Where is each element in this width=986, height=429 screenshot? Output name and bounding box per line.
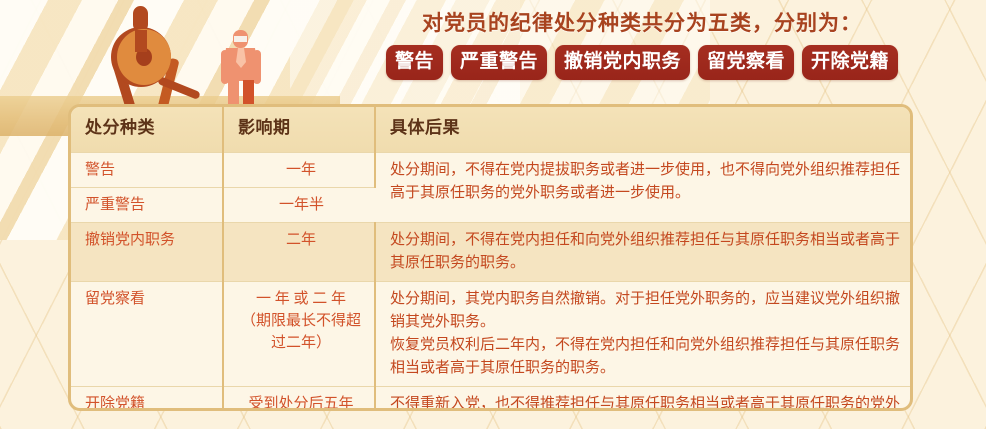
period-main: 一 年 或 二 年: [238, 288, 364, 310]
cell-kind-warning: 警告: [71, 152, 223, 187]
cell-period-expulsion: 受到处分后五年: [223, 386, 375, 411]
table-row: 警告 一年 处分期间，不得在党内提拔职务或者进一步使用，也不得向党外组织推荐担任…: [71, 152, 910, 187]
badge-probation[interactable]: 留党察看: [698, 45, 794, 80]
cell-kind-probation: 留党察看: [71, 281, 223, 386]
cell-kind-serious-warning: 严重警告: [71, 187, 223, 222]
effect-paragraph: 处分期间，不得在党内提拔职务或者进一步使用，也不得向党外组织推荐担任高于其原任职…: [390, 159, 900, 205]
infographic-page: 对党员的纪律处分种类共分为五类，分别为： 警告 严重警告 撤销党内职务 留党察看…: [0, 0, 986, 429]
cell-period-remove-post: 二年: [223, 222, 375, 281]
table-header-row: 处分种类 影响期 具体后果: [71, 107, 910, 152]
column-header-kind: 处分种类: [71, 107, 223, 152]
badge-remove-post[interactable]: 撤销党内职务: [555, 45, 690, 80]
page-title: 对党员的纪律处分种类共分为五类，分别为：: [312, 8, 972, 38]
effect-paragraph: 处分期间，其党内职务自然撤销。对于担任党外职务的，应当建议党外组织撤销其党外职务…: [390, 288, 900, 334]
punishment-table: 处分种类 影响期 具体后果 警告 一年 处分期间，不得在党内提拔职务或者进一步使…: [71, 107, 910, 411]
cell-period-warning: 一年: [223, 152, 375, 187]
seal-stamp-icon: [111, 6, 201, 114]
effect-paragraph: 恢复党员权利后二年内，不得在党内担任和向党外组织推荐担任与其原任职务相当或者高于…: [390, 334, 900, 380]
cell-effect-warning: 处分期间，不得在党内提拔职务或者进一步使用，也不得向党外组织推荐担任高于其原任职…: [375, 152, 910, 222]
cell-period-probation: 一 年 或 二 年 （期限最长不得超过二年）: [223, 281, 375, 386]
cell-effect-remove-post: 处分期间，不得在党内担任和向党外组织推荐担任与其原任职务相当或者高于其原任职务的…: [375, 222, 910, 281]
column-header-effect: 具体后果: [375, 107, 910, 152]
table-row: 留党察看 一 年 或 二 年 （期限最长不得超过二年） 处分期间，其党内职务自然…: [71, 281, 910, 386]
effect-paragraph: 处分期间，不得在党内担任和向党外组织推荐担任与其原任职务相当或者高于其原任职务的…: [390, 229, 900, 275]
table-body: 警告 一年 处分期间，不得在党内提拔职务或者进一步使用，也不得向党外组织推荐担任…: [71, 152, 910, 411]
cell-period-serious-warning: 一年半: [223, 187, 375, 222]
punishment-table-container: 处分种类 影响期 具体后果 警告 一年 处分期间，不得在党内提拔职务或者进一步使…: [68, 104, 913, 411]
period-extra: （期限最长不得超过二年）: [238, 310, 364, 354]
cell-kind-expulsion: 开除党籍: [71, 386, 223, 411]
punishment-badge-list: 警告 严重警告 撤销党内职务 留党察看 开除党籍: [312, 45, 972, 80]
column-header-period: 影响期: [223, 107, 375, 152]
badge-warning[interactable]: 警告: [386, 45, 443, 80]
badge-expulsion[interactable]: 开除党籍: [802, 45, 898, 80]
table-row: 撤销党内职务 二年 处分期间，不得在党内担任和向党外组织推荐担任与其原任职务相当…: [71, 222, 910, 281]
effect-paragraph: 不得重新入党，也不得推荐担任与其原任职务相当或者高于其原任职务的党外职务。: [390, 393, 900, 412]
cell-effect-expulsion: 不得重新入党，也不得推荐担任与其原任职务相当或者高于其原任职务的党外职务。: [375, 386, 910, 411]
cell-effect-probation: 处分期间，其党内职务自然撤销。对于担任党外职务的，应当建议党外组织撤销其党外职务…: [375, 281, 910, 386]
header-illustration: [95, 0, 310, 120]
header-block: 对党员的纪律处分种类共分为五类，分别为： 警告 严重警告 撤销党内职务 留党察看…: [312, 8, 972, 80]
standing-person-icon: [221, 30, 261, 106]
cell-kind-remove-post: 撤销党内职务: [71, 222, 223, 281]
badge-serious-warning[interactable]: 严重警告: [451, 45, 547, 80]
table-row: 开除党籍 受到处分后五年 不得重新入党，也不得推荐担任与其原任职务相当或者高于其…: [71, 386, 910, 411]
